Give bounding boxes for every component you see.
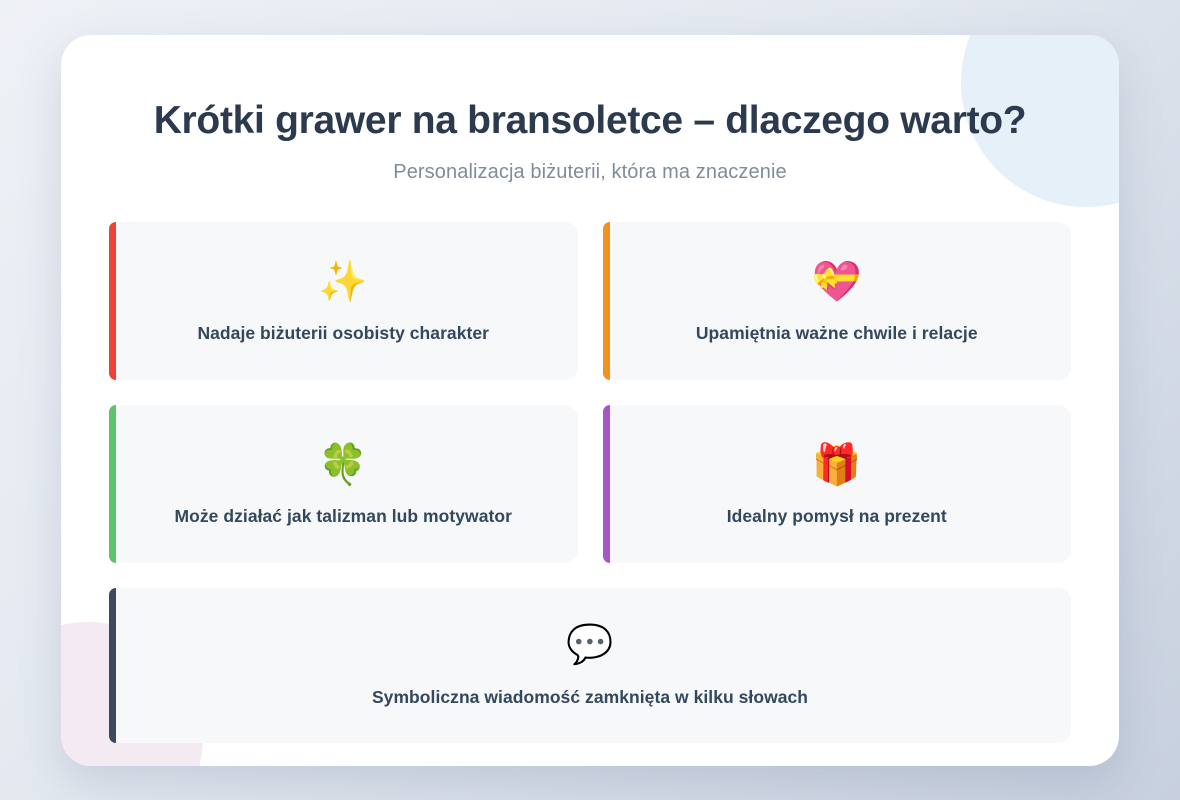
benefit-card[interactable]: 💝 Upamiętnia ważne chwile i relacje bbox=[603, 222, 1072, 380]
benefit-card-label: Symboliczna wiadomość zamknięta w kilku … bbox=[372, 686, 808, 709]
card-accent-bar bbox=[109, 588, 116, 743]
speech-balloon-icon: 💬 bbox=[566, 626, 613, 664]
card-accent-bar bbox=[109, 405, 116, 563]
benefit-card-label: Upamiętnia ważne chwile i relacje bbox=[696, 322, 978, 345]
card-accent-bar bbox=[109, 222, 116, 380]
benefit-card-label: Nadaje biżuterii osobisty charakter bbox=[197, 322, 489, 345]
benefit-card[interactable]: ✨ Nadaje biżuterii osobisty charakter bbox=[109, 222, 578, 380]
gift-icon: 🎁 bbox=[812, 445, 862, 485]
page-subtitle: Personalizacja biżuterii, która ma znacz… bbox=[109, 161, 1071, 184]
sparkles-icon: ✨ bbox=[318, 262, 368, 302]
card-accent-bar bbox=[603, 405, 610, 563]
benefit-card-label: Idealny pomysł na prezent bbox=[727, 505, 947, 528]
four-leaf-clover-icon: 🍀 bbox=[318, 445, 368, 485]
benefit-card[interactable]: 🎁 Idealny pomysł na prezent bbox=[603, 405, 1072, 563]
benefit-card-label: Może działać jak talizman lub motywator bbox=[175, 505, 512, 528]
card-accent-bar bbox=[603, 222, 610, 380]
page-title: Krótki grawer na bransoletce – dlaczego … bbox=[109, 99, 1071, 144]
info-panel: Krótki grawer na bransoletce – dlaczego … bbox=[61, 35, 1119, 766]
heart-with-ribbon-icon: 💝 bbox=[812, 262, 862, 302]
panel-content: Krótki grawer na bransoletce – dlaczego … bbox=[109, 99, 1071, 744]
benefit-card[interactable]: 🍀 Może działać jak talizman lub motywato… bbox=[109, 405, 578, 563]
benefit-card-grid: ✨ Nadaje biżuterii osobisty charakter 💝 … bbox=[109, 222, 1071, 743]
benefit-card[interactable]: 💬 Symboliczna wiadomość zamknięta w kilk… bbox=[109, 588, 1071, 743]
